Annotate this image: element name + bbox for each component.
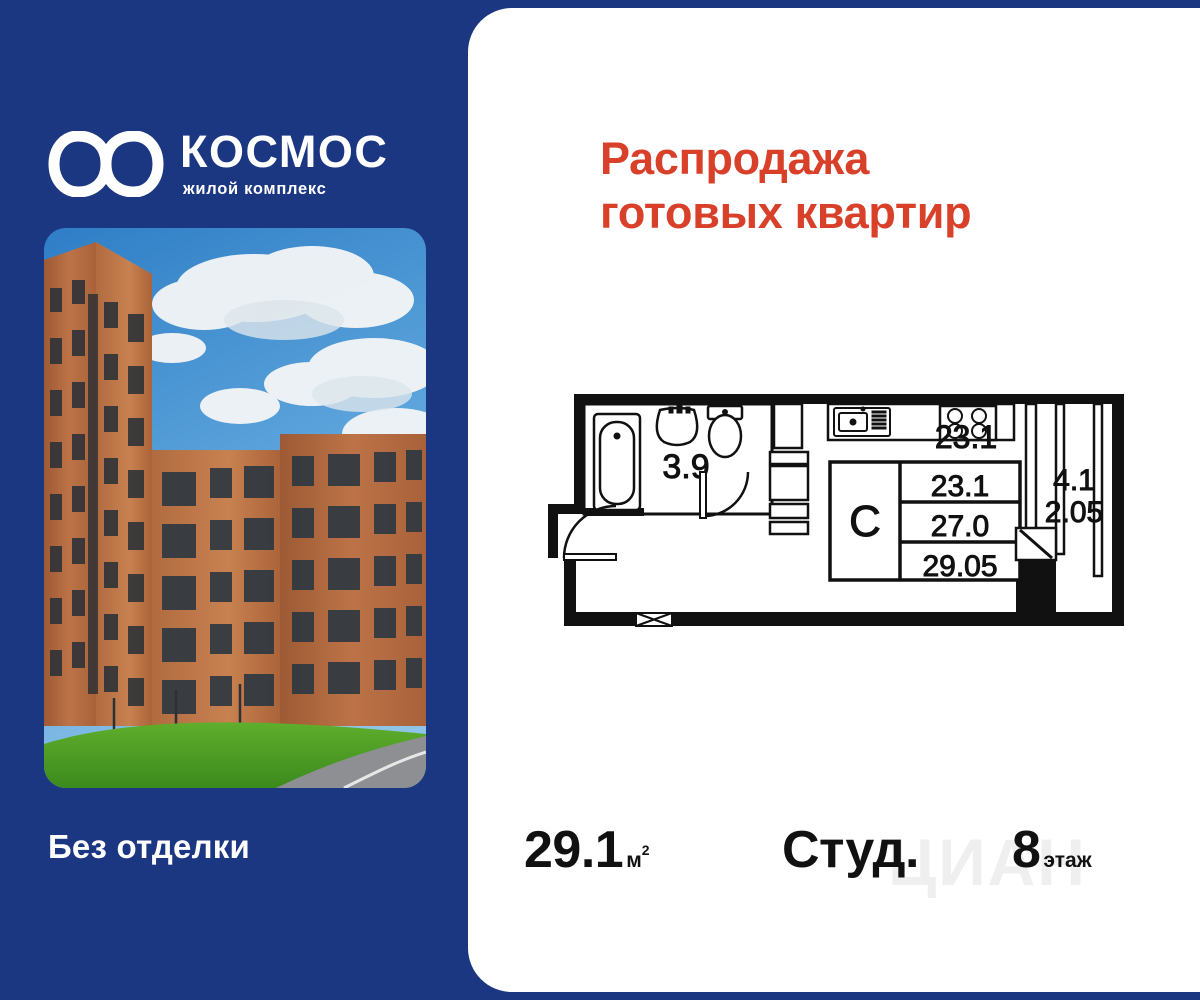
legend-living-area: 23.1 [931, 470, 989, 503]
legend-type-value: С [849, 497, 881, 546]
headline-line-1: Распродажа [600, 132, 1120, 186]
floor-summary: 8 этаж [1012, 820, 1092, 880]
balcony-area-label-2: 2.05 [1045, 496, 1103, 529]
left-brand-panel: КОСМОС жилой комплекс [0, 0, 470, 1000]
floor-value: 8 [1012, 820, 1040, 880]
room-area-label: 23.1 [935, 419, 997, 455]
area-summary: 29.1 м 2 [524, 820, 650, 880]
area-value: 29.1 [524, 820, 623, 880]
brand-logo-block: КОСМОС жилой комплекс [48, 118, 438, 210]
legend-usable-area: 27.0 [931, 510, 989, 543]
page-title: Распродажа готовых квартир [600, 132, 1120, 240]
floor-plan-diagram: 3.9 [508, 380, 1188, 680]
area-unit: м [626, 849, 642, 873]
brand-subtitle: жилой комплекс [183, 180, 388, 199]
finish-caption: Без отделки [48, 828, 428, 866]
building-photo [44, 228, 426, 788]
apartment-summary-row: ЦИАН 29.1 м 2 Студ. 8 этаж [468, 806, 1200, 916]
brand-name: КОСМОС [180, 129, 388, 175]
floor-label: этаж [1043, 849, 1091, 873]
infinity-loop-icon [48, 131, 164, 197]
legend-total-area: 29.05 [922, 550, 997, 583]
area-unit-exponent: 2 [642, 842, 650, 858]
listing-content-panel: Распродажа готовых квартир [468, 8, 1200, 992]
headline-line-2: готовых квартир [600, 186, 1120, 240]
brand-text: КОСМОС жилой комплекс [180, 129, 388, 199]
apartment-type-summary: Студ. [782, 820, 919, 880]
apartment-type-value: Студ. [782, 820, 919, 880]
balcony-area-label: 4.1 [1053, 464, 1095, 497]
